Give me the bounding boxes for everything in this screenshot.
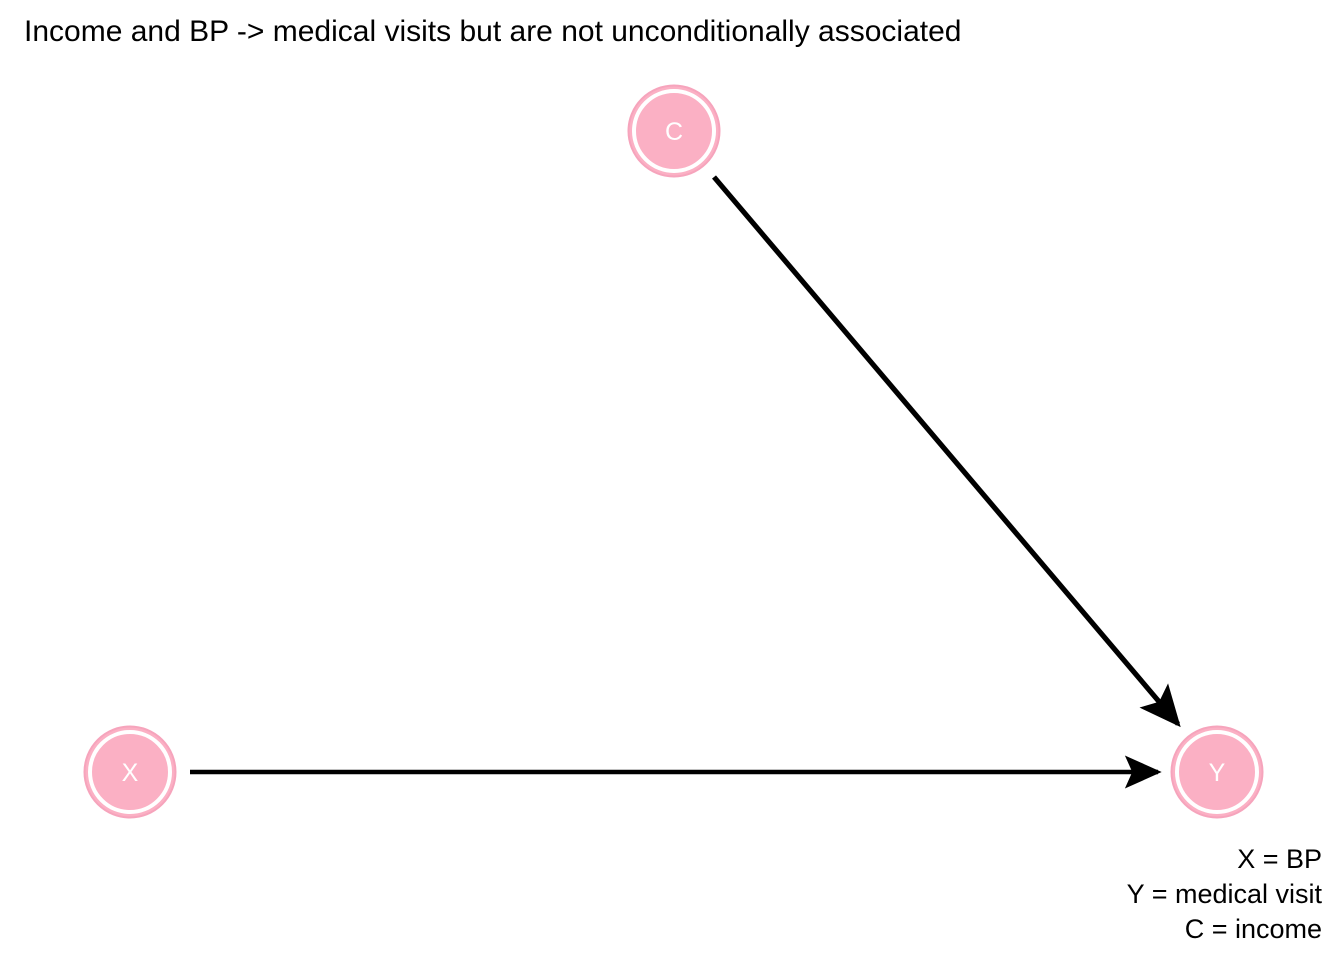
legend-item-x: X = BP: [1127, 842, 1322, 877]
node-c-label: C: [665, 118, 683, 146]
node-x[interactable]: X: [85, 727, 176, 818]
node-y-label: Y: [1209, 759, 1226, 787]
causal-diagram-canvas: Income and BP -> medical visits but are …: [0, 0, 1344, 960]
node-y[interactable]: Y: [1172, 727, 1263, 818]
legend: X = BP Y = medical visit C = income: [1127, 842, 1322, 947]
graph-svg: C X Y: [0, 0, 1344, 960]
legend-item-y: Y = medical visit: [1127, 877, 1322, 912]
node-c[interactable]: C: [629, 86, 720, 177]
edge-line-c-to-y: [714, 177, 1178, 724]
node-x-label: X: [122, 759, 139, 787]
legend-item-c: C = income: [1127, 912, 1322, 947]
edge-c-to-y: [714, 177, 1178, 724]
